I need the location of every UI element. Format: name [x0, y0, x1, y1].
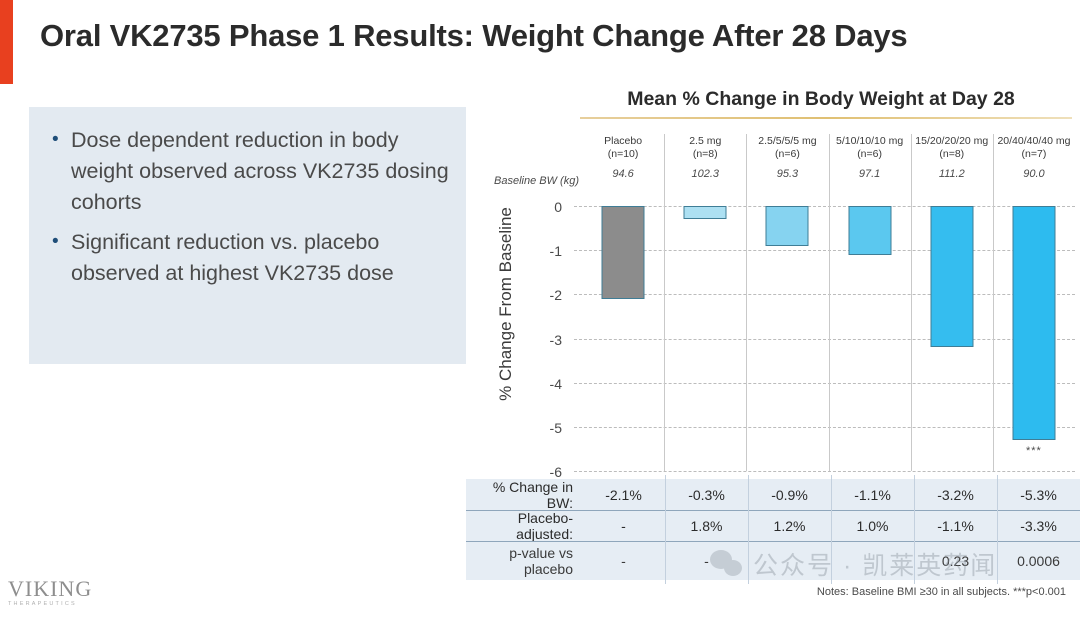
table-row-label: Placebo-adjusted:	[466, 510, 582, 542]
column-n-label: (n=6)	[829, 148, 911, 161]
column-n-label: (n=8)	[911, 148, 993, 161]
chart-bar[interactable]	[1012, 206, 1055, 440]
column-baseline-bw: 95.3	[746, 166, 828, 182]
chart-title: Mean % Change in Body Weight at Day 28	[571, 88, 1071, 111]
table-row-cells: -2.1% -0.3% -0.9% -1.1% -3.2% -5.3%	[582, 479, 1080, 510]
bullet-item: • Significant reduction vs. placebo obse…	[52, 227, 452, 289]
table-cell	[831, 542, 914, 580]
bullet-dot-icon: •	[52, 125, 71, 155]
column-dose-label: 2.5/5/5/5 mg	[746, 135, 828, 148]
table-cell: 1.2%	[748, 511, 831, 541]
y-axis-tick-label: -2	[550, 287, 562, 303]
column-dose-label: 5/10/10/10 mg	[829, 135, 911, 148]
column-dose-label: 15/20/20/20 mg	[911, 135, 993, 148]
column-dose-label: Placebo	[582, 135, 664, 148]
plot-area: 0-1-2-3-4-5-6***	[582, 206, 1075, 471]
column-n-label: (n=8)	[664, 148, 746, 161]
table-cell: -5.3%	[997, 479, 1080, 510]
bullet-text: Significant reduction vs. placebo observ…	[71, 227, 452, 289]
table-cell: -	[582, 542, 665, 580]
table-row-cells: - - 0.23 0.0006	[582, 542, 1080, 580]
table-row-label: % Change in BW:	[466, 479, 582, 511]
y-axis-tick-label: -1	[550, 243, 562, 259]
column-header: 2.5 mg (n=8) 102.3	[664, 134, 746, 206]
table-cell: -3.3%	[997, 511, 1080, 541]
table-cell: -	[665, 542, 748, 580]
bar-slot	[746, 206, 828, 471]
table-row-label: p-value vs placebo	[466, 545, 582, 577]
bar-slot	[664, 206, 746, 471]
column-dose-label: 2.5 mg	[664, 135, 746, 148]
chart-column-headers: Placebo (n=10) 94.6 2.5 mg (n=8) 102.3 2…	[582, 134, 1075, 206]
chart-title-underline	[580, 117, 1072, 119]
chart-bar[interactable]	[930, 206, 973, 347]
column-baseline-bw: 90.0	[993, 166, 1075, 182]
table-cell: -	[582, 511, 665, 541]
column-baseline-bw: 102.3	[664, 166, 746, 182]
data-table: % Change in BW: -2.1% -0.3% -0.9% -1.1% …	[466, 479, 1080, 580]
column-baseline-bw: 111.2	[911, 166, 993, 182]
table-row: Placebo-adjusted: - 1.8% 1.2% 1.0% -1.1%…	[466, 510, 1080, 541]
viking-logo: VIKING THERAPEUTICS	[8, 578, 158, 607]
significance-marker: ***	[1026, 445, 1042, 457]
page-title: Oral VK2735 Phase 1 Results: Weight Chan…	[40, 18, 1000, 54]
gridline: -6	[574, 471, 1075, 472]
bar-slot	[582, 206, 664, 471]
y-axis-tick-label: -3	[550, 332, 562, 348]
chart-bar[interactable]	[766, 206, 809, 246]
logo-wordmark: VIKING	[8, 578, 158, 600]
y-axis-title: % Change From Baseline	[496, 204, 516, 404]
table-cell: -1.1%	[914, 511, 997, 541]
table-row: p-value vs placebo - - 0.23 0.0006	[466, 541, 1080, 580]
chart-bar[interactable]	[684, 206, 727, 219]
column-header: 2.5/5/5/5 mg (n=6) 95.3	[746, 134, 828, 206]
y-axis-tick-label: 0	[554, 199, 562, 215]
table-cell: -1.1%	[831, 479, 914, 510]
column-header: Placebo (n=10) 94.6	[582, 134, 664, 206]
bullet-item: • Dose dependent reduction in body weigh…	[52, 125, 452, 218]
column-n-label: (n=7)	[993, 148, 1075, 161]
bullet-dot-icon: •	[52, 227, 71, 257]
bar-slot	[829, 206, 911, 471]
table-cell: -0.9%	[748, 479, 831, 510]
column-header: 5/10/10/10 mg (n=6) 97.1	[829, 134, 911, 206]
bullet-panel: • Dose dependent reduction in body weigh…	[29, 107, 466, 364]
table-cell: -2.1%	[582, 479, 665, 510]
bullet-text: Dose dependent reduction in body weight …	[71, 125, 452, 218]
chart-bar[interactable]	[602, 206, 645, 299]
baseline-bw-label: Baseline BW (kg)	[476, 175, 579, 187]
table-row: % Change in BW: -2.1% -0.3% -0.9% -1.1% …	[466, 479, 1080, 510]
column-n-label: (n=10)	[582, 148, 664, 161]
chart-notes: Notes: Baseline BMI ≥30 in all subjects.…	[466, 586, 1080, 598]
column-baseline-bw: 94.6	[582, 166, 664, 182]
column-baseline-bw: 97.1	[829, 166, 911, 182]
column-dose-label: 20/40/40/40 mg	[993, 135, 1075, 148]
column-header: 15/20/20/20 mg (n=8) 111.2	[911, 134, 993, 206]
table-cell: 0.23	[914, 542, 997, 580]
logo-subtitle: THERAPEUTICS	[8, 601, 158, 607]
table-cell: 1.8%	[665, 511, 748, 541]
table-cell: -0.3%	[665, 479, 748, 510]
table-cell: 1.0%	[831, 511, 914, 541]
table-cell: 0.0006	[997, 542, 1080, 580]
column-n-label: (n=6)	[746, 148, 828, 161]
chart-bar[interactable]	[848, 206, 891, 255]
table-cell	[748, 542, 831, 580]
plot-wrapper: % Change From Baseline 0-1-2-3-4-5-6***	[466, 206, 1080, 471]
y-axis-tick-label: -4	[550, 376, 562, 392]
bar-slot: ***	[993, 206, 1075, 471]
title-accent-bar	[0, 0, 13, 84]
table-row-cells: - 1.8% 1.2% 1.0% -1.1% -3.3%	[582, 511, 1080, 541]
column-header: 20/40/40/40 mg (n=7) 90.0	[993, 134, 1075, 206]
table-cell: -3.2%	[914, 479, 997, 510]
y-axis-tick-label: -5	[550, 420, 562, 436]
bar-slot	[911, 206, 993, 471]
